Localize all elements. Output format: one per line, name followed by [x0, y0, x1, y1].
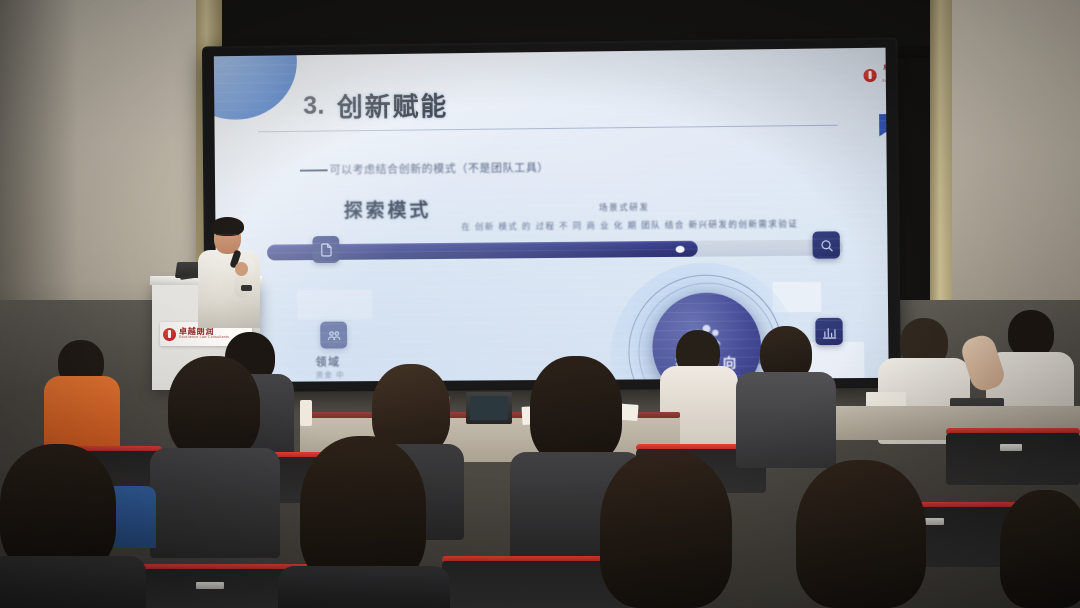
brand-name-en: Excellence Law Consultants [879, 80, 889, 87]
slide-ghost-block [297, 289, 373, 319]
node-users-label: 领域 [316, 353, 341, 369]
slide-title: 创新赋能 [337, 86, 449, 124]
torso [278, 566, 450, 608]
right-wall [936, 0, 1080, 330]
chair-tag [196, 582, 224, 589]
head [300, 436, 426, 586]
title-divider [258, 125, 838, 133]
node-users-sublabel: 资金 中 [316, 369, 345, 380]
brand-mark-icon [863, 69, 876, 82]
chair [946, 433, 1080, 485]
slide-note-top: 场景式研发 [599, 201, 650, 214]
brand-name-en: Excellence Law Consultants [179, 336, 229, 339]
brand-mark-icon [163, 328, 176, 341]
laptop-screen [470, 396, 508, 420]
head [0, 444, 116, 574]
head [796, 460, 926, 608]
slide-note-row: 在 创新 模式 的 过程 不 同 商 业 化 期 团队 结合 新兴研发的创新需求… [461, 218, 798, 233]
decor-blue-circle [214, 48, 298, 121]
subtitle-dash [300, 169, 328, 171]
head [530, 356, 622, 464]
bookmark-icon [879, 114, 889, 136]
cup [300, 400, 312, 426]
node-users-icon[interactable] [320, 322, 347, 349]
slide-section-heading: 探索模式 [344, 195, 432, 223]
speaker-hand [235, 262, 248, 276]
torso [0, 556, 146, 608]
presentation-photo: 3. 创新赋能 可以考虑结合创新的模式（不是团队工具） 探索模式 场景式研发 在… [0, 0, 1080, 608]
node-bar-chart-icon[interactable] [815, 318, 843, 345]
slide-section-number: 3. [303, 92, 325, 121]
torso [44, 376, 120, 450]
right-pillar [930, 0, 952, 300]
chair-tag [1000, 444, 1022, 451]
head [1000, 490, 1080, 608]
head [600, 450, 732, 608]
node-search-icon[interactable] [812, 231, 840, 258]
upper-dark-wall [212, 0, 936, 46]
node-document-icon[interactable] [312, 236, 339, 263]
slide-subtitle: 可以考虑结合创新的模式（不是团队工具） [330, 159, 549, 177]
progress-knob [676, 246, 685, 253]
torso [736, 372, 836, 468]
brand-name-cn: 卓越朗润 [879, 63, 889, 80]
speaker-glasses [216, 234, 239, 240]
slide-brand-logo: 卓越朗润 Excellence Law Consultants [863, 63, 888, 87]
speaker-watch [241, 285, 252, 291]
head [1008, 310, 1054, 358]
torso [150, 448, 280, 558]
head [168, 356, 260, 460]
